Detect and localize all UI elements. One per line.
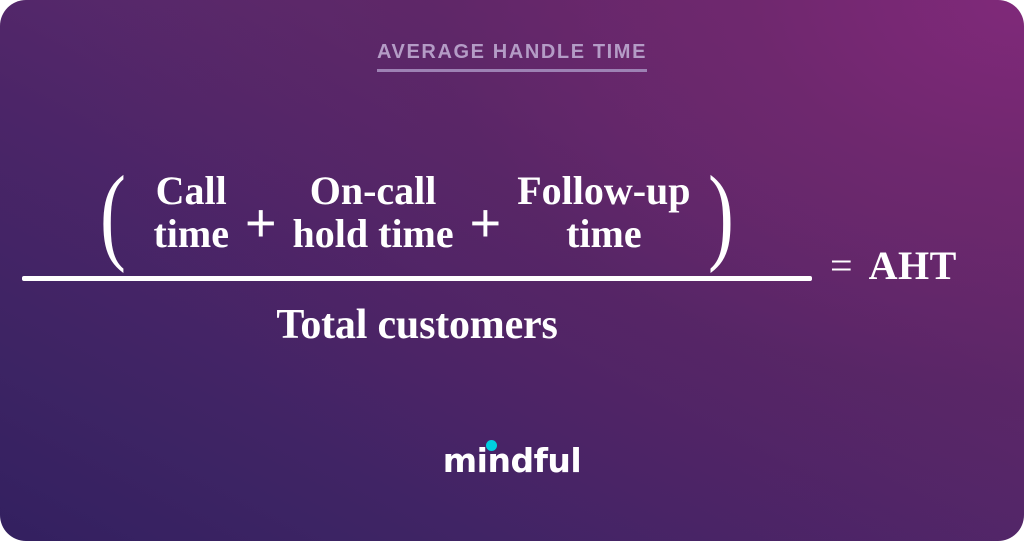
fraction-denominator: Total customers (22, 281, 812, 346)
term-follow-up-time: Follow-up time (517, 170, 690, 256)
header: AVERAGE HANDLE TIME (0, 42, 1024, 72)
term-follow-up-time-line1: Follow-up (517, 168, 690, 213)
plus-operator-1: + (245, 196, 277, 250)
close-parenthesis: ) (708, 176, 734, 254)
infographic-card: AVERAGE HANDLE TIME ( Call time + On-cal… (0, 0, 1024, 541)
term-on-call-hold-time-line1: On-call (310, 168, 437, 213)
logo-dot-icon (486, 440, 497, 451)
term-call-time: Call time (153, 170, 229, 256)
term-call-time-line1: Call (156, 168, 227, 213)
logo-wordmark: mindful (443, 441, 581, 480)
term-on-call-hold-time: On-call hold time (293, 170, 454, 256)
equals-sign: = (830, 246, 853, 286)
brand-logo: mindful (0, 444, 1024, 477)
logo-inner: mindful (443, 444, 581, 477)
result-label-aht: AHT (869, 246, 957, 286)
formula-result: = AHT (830, 246, 957, 286)
fraction: ( Call time + On-call hold time + Follow… (22, 160, 812, 346)
formula-block: ( Call time + On-call hold time + Follow… (0, 160, 1024, 346)
page-title: AVERAGE HANDLE TIME (377, 42, 647, 72)
plus-operator-2: + (470, 196, 502, 250)
fraction-numerator: ( Call time + On-call hold time + Follow… (22, 160, 812, 266)
term-call-time-line2: time (153, 213, 229, 256)
term-follow-up-time-line2: time (517, 213, 690, 256)
term-on-call-hold-time-line2: hold time (293, 213, 454, 256)
open-parenthesis: ( (101, 176, 127, 254)
